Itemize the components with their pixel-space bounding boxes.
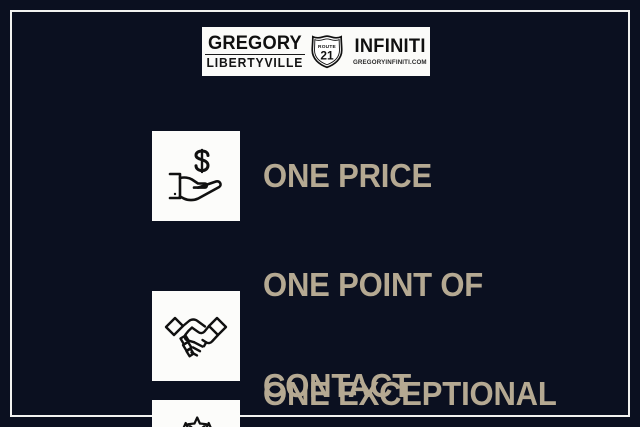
hand-holding-stars-icon (163, 416, 229, 427)
dealer-name-block: GREGORY LIBERTYVILLE (205, 34, 305, 70)
benefit-icon-box (152, 400, 240, 427)
route-shield-icon: ROUTE 21 (310, 35, 344, 69)
dealer-city: LIBERTYVILLE (207, 57, 304, 70)
benefit-line: ONE PRICE (263, 159, 432, 193)
dealer-website: GREGORYINFINITI.COM (353, 60, 427, 66)
benefit-text: ONE EXCEPTIONAL EXPERIENCE (263, 310, 557, 427)
benefit-line: ONE POINT OF (263, 268, 483, 302)
benefit-line: ONE EXCEPTIONAL (263, 377, 557, 411)
dealer-logo-bar: GREGORY LIBERTYVILLE ROUTE 21 INFINITI G… (202, 27, 430, 76)
hand-holding-dollar-icon (164, 146, 228, 206)
promo-graphic: GREGORY LIBERTYVILLE ROUTE 21 INFINITI G… (0, 0, 640, 427)
shield-route-number: 21 (320, 48, 334, 62)
make-name: INFINITI (354, 37, 425, 56)
dealer-name: GREGORY (208, 34, 302, 53)
benefit-row: ONE EXCEPTIONAL EXPERIENCE (152, 310, 575, 427)
make-block: INFINITI GREGORYINFINITI.COM (353, 37, 427, 66)
